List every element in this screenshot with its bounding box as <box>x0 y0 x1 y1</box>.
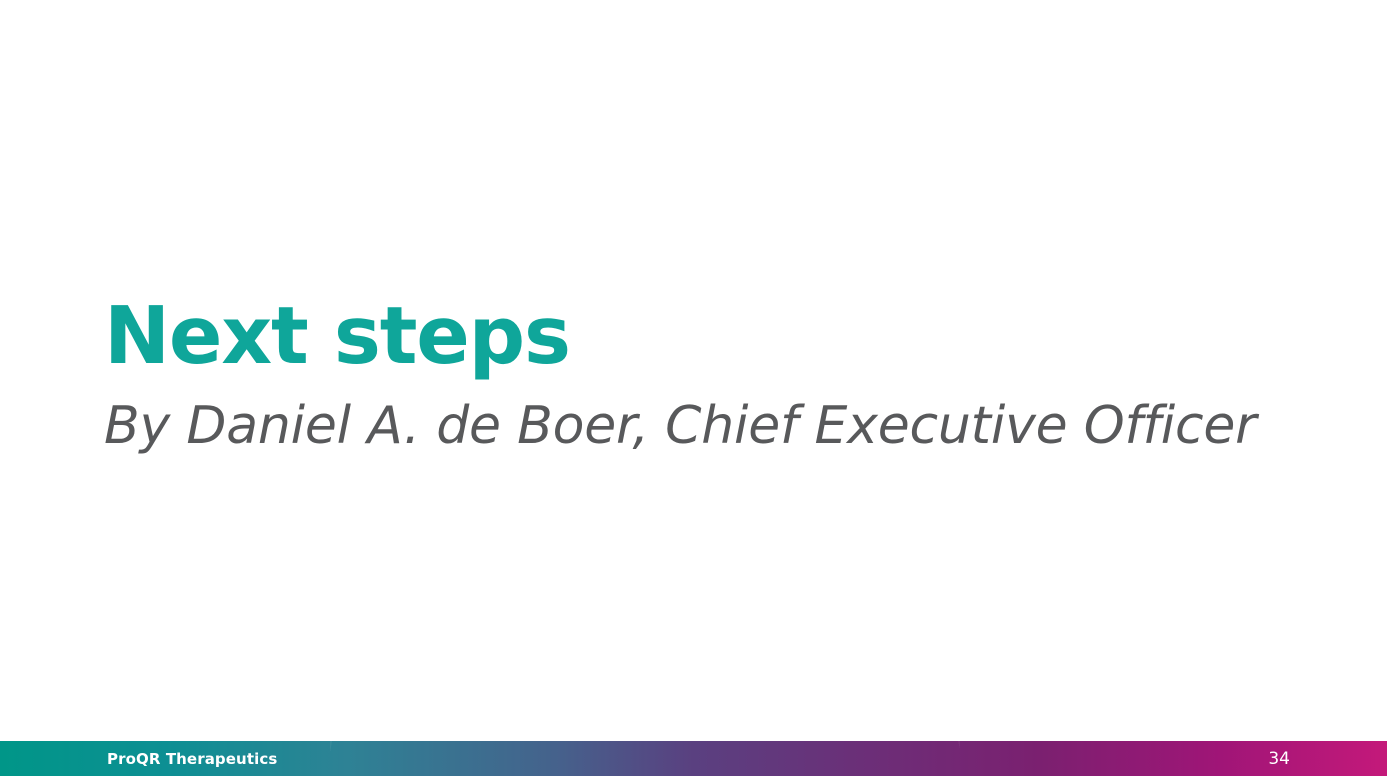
footer-company-name: ProQR Therapeutics <box>107 741 277 776</box>
slide-title-block: Next steps By Daniel A. de Boer, Chief E… <box>104 292 1264 458</box>
presentation-slide: Next steps By Daniel A. de Boer, Chief E… <box>0 0 1387 780</box>
slide-subtitle: By Daniel A. de Boer, Chief Executive Of… <box>104 394 1264 458</box>
page-title: Next steps <box>104 292 1264 380</box>
footer-bar: ProQR Therapeutics 34 <box>0 741 1387 776</box>
slide-page-number: 34 <box>1268 741 1290 776</box>
